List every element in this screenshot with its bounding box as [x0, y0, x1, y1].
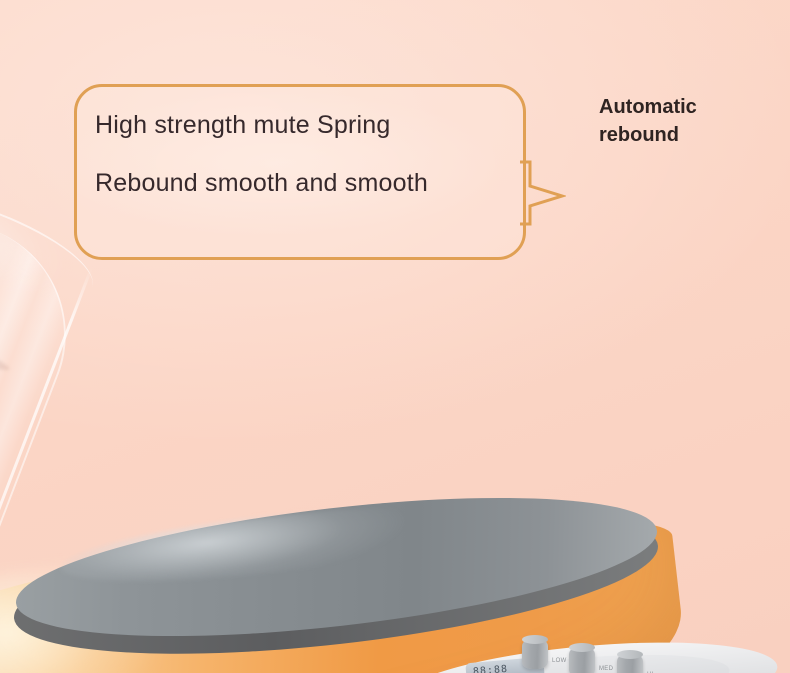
acrylic-tube-band-upper [0, 304, 12, 376]
callout-line-2: rebound [599, 121, 759, 149]
speech-bubble-line-1: High strength mute Spring [95, 111, 509, 140]
callout-automatic-rebound: Automatic rebound [599, 93, 759, 150]
control-knob-2-label: MED [599, 666, 613, 672]
speech-bubble-text: High strength mute Spring Rebound smooth… [95, 111, 509, 198]
screenshot-canvas: 88:88 LOW MED HI High strength mute Spri… [0, 0, 790, 673]
control-knob-3[interactable] [617, 654, 643, 673]
control-knob-2[interactable] [569, 647, 595, 673]
speech-bubble-line-2: Rebound smooth and smooth [95, 169, 509, 198]
speech-bubble-tail-icon [518, 158, 566, 228]
control-knob-1-label: LOW [552, 658, 567, 664]
control-display-value: 88:88 [473, 664, 509, 673]
callout-line-1: Automatic [599, 93, 759, 121]
control-knob-1[interactable] [522, 639, 548, 669]
speech-bubble: High strength mute Spring Rebound smooth… [74, 84, 526, 260]
